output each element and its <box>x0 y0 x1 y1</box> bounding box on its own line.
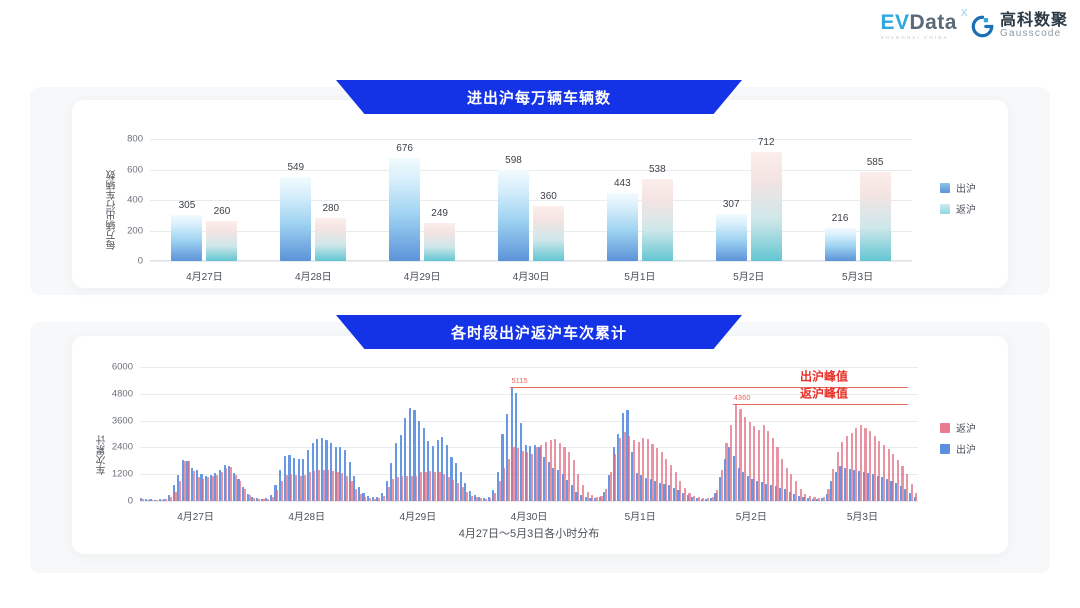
chart1-ytick-label: 600 <box>127 164 143 175</box>
brand-logo-bar: EVDatax SHANGHAI CHINA 高科数聚 Gausscode <box>880 12 1068 41</box>
chart2-bar-return[interactable] <box>309 472 311 501</box>
chart2-bar-return[interactable] <box>443 474 445 501</box>
chart2-bar-return[interactable] <box>809 496 811 501</box>
chart2-bar-return[interactable] <box>480 498 482 501</box>
chart2-xtick-label: 4月27日 <box>177 508 214 523</box>
chart2-bar-return[interactable] <box>591 495 593 501</box>
chart1-xtick-label: 5月3日 <box>842 268 873 283</box>
chart2-bar-return[interactable] <box>647 439 649 501</box>
chart2-bar-return[interactable] <box>156 500 158 501</box>
chart2-legend-item-out[interactable]: 出沪 <box>940 441 976 456</box>
chart2-bar-return[interactable] <box>383 496 385 501</box>
chart1-ytick-label: 800 <box>127 134 143 145</box>
chart2-bar-return[interactable] <box>554 439 556 501</box>
chart1-bar-out[interactable]: 443 <box>607 193 638 261</box>
chart1-bar-group: 443538 <box>607 179 673 261</box>
chart2-bar-return[interactable] <box>661 452 663 501</box>
chart2-peak-line <box>733 404 908 405</box>
gausscode-text: 高科数聚 Gausscode <box>1000 13 1068 40</box>
chart1-legend: 出沪 返沪 <box>940 180 976 216</box>
chart1-bar-group: 549280 <box>280 177 346 261</box>
chart2-bar-return[interactable] <box>540 445 542 502</box>
evdata-subtitle: SHANGHAI CHINA <box>880 36 948 41</box>
chart2-ytick-label: 6000 <box>112 362 133 373</box>
chart1-ytick-label: 200 <box>127 225 143 236</box>
chart1-bar-return[interactable]: 280 <box>315 218 346 261</box>
chart1-ytick-label: 0 <box>138 256 143 267</box>
chart2-bar-return[interactable] <box>262 499 264 501</box>
chart2-xaxis-caption: 4月27日～5月3日各小时分布 <box>140 525 918 541</box>
gausscode-logo: 高科数聚 Gausscode <box>971 13 1068 40</box>
chart2-bar-return[interactable] <box>790 474 792 501</box>
chart2-bar-return[interactable] <box>725 443 727 501</box>
chart2-bar-return[interactable] <box>355 489 357 502</box>
chart2-bar-return[interactable] <box>832 469 834 501</box>
chart2-bar-return[interactable] <box>378 498 380 501</box>
chart2-xtick-label: 4月30日 <box>511 508 548 523</box>
evdata-ev-text: EV <box>880 11 909 34</box>
chart2-bar-return[interactable] <box>452 480 454 501</box>
chart2-bar-return[interactable] <box>244 489 246 501</box>
chart2-bar-return[interactable] <box>346 476 348 501</box>
chart2-bar-return[interactable] <box>526 452 528 501</box>
chart1-bar-value-label: 360 <box>540 191 557 202</box>
chart2-bar-return[interactable] <box>559 443 561 502</box>
chart1-bar-return[interactable]: 249 <box>424 223 455 261</box>
chart1-bar-value-label: 216 <box>832 213 849 224</box>
chart2-ytick-label: 2400 <box>112 442 133 453</box>
chart2-bar-return[interactable] <box>781 459 783 501</box>
chart1-xtick-label: 4月27日 <box>186 268 223 283</box>
chart2-bar-return[interactable] <box>387 487 389 501</box>
chart1-bar-out[interactable]: 676 <box>389 158 420 261</box>
chart2-bar-return[interactable] <box>397 477 399 501</box>
chart2-bar-return[interactable] <box>633 440 635 501</box>
chart2-bar-return[interactable] <box>739 409 741 501</box>
chart2-bar-return[interactable] <box>522 451 524 501</box>
chart2-bar-return[interactable] <box>749 422 751 501</box>
chart2-legend: 返沪 出沪 <box>940 420 976 456</box>
chart2-bar-return[interactable] <box>170 497 172 501</box>
chart2-bar-return[interactable] <box>610 472 612 501</box>
chart2-xtick-label: 4月29日 <box>400 508 437 523</box>
gausscode-mark-icon <box>971 15 994 38</box>
chart2-bar-return[interactable] <box>211 476 213 501</box>
chart2-legend-label-out: 出沪 <box>956 441 976 456</box>
chart2-bar-return[interactable] <box>350 481 352 501</box>
chart2-gridline <box>140 421 918 422</box>
chart2-bar-return[interactable] <box>596 497 598 501</box>
chart2-ytick-label: 3600 <box>112 415 133 426</box>
chart2-bar-return[interactable] <box>753 426 755 501</box>
chart2-bar-return[interactable] <box>429 471 431 501</box>
chart-title-banner-vehicles: 进出沪每万辆车辆数 <box>336 80 742 114</box>
chart2-bar-return[interactable] <box>600 496 602 501</box>
chart2-xtick-label: 5月2日 <box>736 508 767 523</box>
chart2-bar-return[interactable] <box>707 498 709 501</box>
chart2-bar-return[interactable] <box>448 477 450 501</box>
chart1-xtick-label: 5月2日 <box>733 268 764 283</box>
chart2-bar-return[interactable] <box>471 496 473 501</box>
legend-swatch-icon <box>940 444 950 454</box>
chart2-bar-return[interactable] <box>665 459 667 501</box>
chart2-bar-return[interactable] <box>323 470 325 501</box>
chart2-bar-return[interactable] <box>813 497 815 501</box>
chart2-peak-value: 4360 <box>734 393 751 402</box>
chart1-bar-return[interactable]: 538 <box>642 179 673 261</box>
chart2-bar-return[interactable] <box>679 481 681 501</box>
chart2-bar-return[interactable] <box>424 472 426 501</box>
chart1-bar-return[interactable]: 585 <box>860 172 891 261</box>
chart2-bar-return[interactable] <box>712 497 714 501</box>
chart2-bar-return[interactable] <box>735 404 737 501</box>
chart2-bar-return[interactable] <box>411 476 413 501</box>
chart2-bar-return[interactable] <box>165 499 167 501</box>
chart2-bar-return[interactable] <box>336 472 338 501</box>
chart2-bar-return[interactable] <box>332 471 334 501</box>
chart2-bar-return[interactable] <box>475 497 477 501</box>
chart2-bar-return[interactable] <box>638 442 640 501</box>
chart2-bar-return[interactable] <box>249 495 251 501</box>
chart1-bar-return[interactable]: 712 <box>751 152 782 261</box>
chart2-bar-return[interactable] <box>675 472 677 501</box>
chart2-bar-return[interactable] <box>688 493 690 501</box>
chart2-bar-return[interactable] <box>318 470 320 501</box>
chart2-bar-return[interactable] <box>401 476 403 501</box>
chart2-bar-return[interactable] <box>670 465 672 501</box>
chart2-bar-return[interactable] <box>485 499 487 501</box>
chart2-bar-return[interactable] <box>795 481 797 501</box>
chart2-bar-return[interactable] <box>508 459 510 501</box>
chart2-bar-return[interactable] <box>767 431 769 501</box>
chart2-gridline <box>140 501 918 502</box>
chart2-bar-return[interactable] <box>800 489 802 502</box>
chart1-bar-value-label: 305 <box>179 200 196 211</box>
chart2-bar-return[interactable] <box>512 447 514 501</box>
chart2-bar-return[interactable] <box>188 461 190 501</box>
chart2-xtick-label: 5月1日 <box>625 508 656 523</box>
chart2-bar-return[interactable] <box>605 489 607 502</box>
chart2-bar-return[interactable] <box>730 425 732 501</box>
chart2-bar-return[interactable] <box>198 477 200 501</box>
chart2-bar-return[interactable] <box>392 479 394 501</box>
chart2-bar-return[interactable] <box>628 436 630 501</box>
chart1-gridline <box>150 139 912 140</box>
chart2-bar-return[interactable] <box>374 499 376 501</box>
chart2-bar-return[interactable] <box>851 433 853 501</box>
chart1-bar-out[interactable]: 549 <box>280 177 311 261</box>
chart1-bar-value-label: 280 <box>322 203 339 214</box>
chart1-bar-out[interactable]: 305 <box>171 215 202 262</box>
chart1-xtick-label: 4月30日 <box>513 268 550 283</box>
chart2-xtick-label: 5月3日 <box>847 508 878 523</box>
chart1-legend-label-out: 出沪 <box>956 180 976 195</box>
chart1-xtick-label: 5月1日 <box>624 268 655 283</box>
chart2-bar-return[interactable] <box>656 448 658 501</box>
chart2-bar-return[interactable] <box>651 444 653 501</box>
chart2-bar-return[interactable] <box>758 430 760 501</box>
chart1-bar-group: 676249 <box>389 158 455 261</box>
chart2-bar-return[interactable] <box>369 498 371 501</box>
chart2-bar-return[interactable] <box>304 475 306 501</box>
chart2-bar-return[interactable] <box>878 441 880 501</box>
chart2-bar-return[interactable] <box>855 428 857 501</box>
chart2-bar-return[interactable] <box>573 460 575 501</box>
chart1-legend-item-out[interactable]: 出沪 <box>940 180 976 195</box>
chart2-bar-return[interactable] <box>846 436 848 501</box>
chart2-bar-return[interactable] <box>619 438 621 501</box>
chart2-bar-return[interactable] <box>911 484 913 501</box>
chart2-bar-return[interactable] <box>272 497 274 501</box>
chart2-bar-return[interactable] <box>230 467 232 501</box>
chart2-plot-area: 4月27日～5月3日各小时分布 0120024003600480060004月2… <box>140 367 918 501</box>
chart2-ytick-label: 1200 <box>112 469 133 480</box>
chart2-xtick-label: 4月28日 <box>288 508 325 523</box>
chart2-bar-return[interactable] <box>693 496 695 501</box>
chart2-bar-return[interactable] <box>827 489 829 501</box>
chart2-bar-return[interactable] <box>503 468 505 501</box>
chart1-gridline <box>150 261 912 262</box>
chart-title-banner-hourly: 各时段出沪返沪车次累计 <box>336 315 742 349</box>
chart2-bar-return[interactable] <box>207 477 209 501</box>
chart2-ytick-label: 0 <box>128 496 133 507</box>
chart2-bar-return[interactable] <box>290 474 292 501</box>
chart2-bar-return[interactable] <box>406 476 408 501</box>
chart2-bar-return[interactable] <box>438 472 440 501</box>
chart1-bar-value-label: 260 <box>214 206 231 217</box>
chart2-bar-return[interactable] <box>174 492 176 501</box>
legend-swatch-icon <box>940 423 950 433</box>
chart1-bar-value-label: 712 <box>758 137 775 148</box>
chart1-plot-area: 02004006008003052604月27日5492804月28日67624… <box>150 139 912 261</box>
gausscode-en-name: Gausscode <box>1000 29 1068 40</box>
chart2-bar-return[interactable] <box>147 500 149 501</box>
chart2-bar-return[interactable] <box>698 497 700 501</box>
chart1-bar-value-label: 443 <box>614 178 631 189</box>
chart2-bar-return[interactable] <box>267 499 269 501</box>
chart1-bar-return[interactable]: 360 <box>533 206 564 261</box>
chart2-bar-return[interactable] <box>221 472 223 501</box>
chart2-bar-return[interactable] <box>299 476 301 501</box>
chart2-bar-return[interactable] <box>545 442 547 501</box>
legend-swatch-icon <box>940 204 950 214</box>
chart1-xtick-label: 4月28日 <box>295 268 332 283</box>
chart2-bar-return[interactable] <box>258 499 260 501</box>
chart2-bar-return[interactable] <box>614 454 616 501</box>
chart2-bar-return[interactable] <box>420 472 422 501</box>
chart2-bar-return[interactable] <box>253 498 255 501</box>
chart2-bar-return[interactable] <box>202 479 204 501</box>
chart2-bar-return[interactable] <box>864 428 866 501</box>
chart2-bar-return[interactable] <box>550 440 552 501</box>
chart2-bar-return[interactable] <box>684 488 686 501</box>
chart2-bar-return[interactable] <box>462 487 464 501</box>
chart2-bar-return[interactable] <box>466 492 468 501</box>
chart2-bar-return[interactable] <box>860 425 862 501</box>
chart1-bar-value-label: 307 <box>723 199 740 210</box>
chart2-bar-return[interactable] <box>142 499 144 501</box>
chart1-bar-value-label: 249 <box>431 208 448 219</box>
chart1-bar-out[interactable]: 307 <box>716 214 747 261</box>
chart2-peak-line <box>510 387 908 388</box>
chart2-peak-label: 出沪峰值 <box>800 367 848 384</box>
chart1-bar-value-label: 549 <box>287 162 304 173</box>
chart1-bar-group: 216585 <box>825 172 891 261</box>
chart2-bar-return[interactable] <box>568 452 570 501</box>
chart1-ytick-label: 400 <box>127 195 143 206</box>
chart1-legend-label-return: 返沪 <box>956 201 976 216</box>
chart2-bar-return[interactable] <box>897 460 899 501</box>
chart2-bar-return[interactable] <box>587 492 589 501</box>
evdata-logo: EVDatax SHANGHAI CHINA <box>880 12 957 41</box>
gausscode-cn-name: 高科数聚 <box>1000 13 1068 30</box>
chart1-bar-value-label: 585 <box>867 157 884 168</box>
chart1-bar-value-label: 676 <box>396 143 413 154</box>
chart2-bar-return[interactable] <box>744 417 746 501</box>
chart2-bar-return[interactable] <box>536 447 538 501</box>
chart2-bar-return[interactable] <box>624 432 626 501</box>
chart2-bar-return[interactable] <box>818 498 820 501</box>
chart1-bar-group: 307712 <box>716 152 782 261</box>
chart2-peak-value: 5115 <box>511 376 527 385</box>
chart2-bar-return[interactable] <box>823 497 825 501</box>
chart2-bar-return[interactable] <box>888 449 890 501</box>
chart1-bar-value-label: 598 <box>505 155 522 166</box>
chart1-bar-out[interactable]: 216 <box>825 228 856 261</box>
chart2-bar-return[interactable] <box>892 454 894 501</box>
chart2-bar-return[interactable] <box>869 431 871 501</box>
chart2-ytick-label: 4800 <box>112 388 133 399</box>
chart2-bar-return[interactable] <box>239 481 241 501</box>
chart2-bar-return[interactable] <box>582 485 584 501</box>
chart2-bar-return[interactable] <box>841 442 843 501</box>
evdata-wordmark: EVDatax <box>880 12 957 33</box>
chart2-peak-label: 返沪峰值 <box>800 384 848 401</box>
chart2-bar-return[interactable] <box>874 436 876 501</box>
chart2-bar-return[interactable] <box>216 475 218 501</box>
chart2-bar-return[interactable] <box>642 438 644 501</box>
chart1-yaxis-title: 每万辆出行车辆数 <box>105 150 120 250</box>
chart1-legend-item-return[interactable]: 返沪 <box>940 201 976 216</box>
chart2-bar-return[interactable] <box>577 474 579 501</box>
chart2-bar-return[interactable] <box>494 493 496 501</box>
chart2-bar-return[interactable] <box>184 461 186 501</box>
chart2-bar-return[interactable] <box>313 471 315 501</box>
chart2-yaxis-title: 车次累计 <box>95 395 110 475</box>
chart2-bar-return[interactable] <box>295 475 297 501</box>
chart1-bar-group: 305260 <box>171 215 237 262</box>
chart2-bar-return[interactable] <box>517 448 519 501</box>
chart2-bar-return[interactable] <box>341 473 343 501</box>
evdata-x-icon: x <box>961 5 968 18</box>
chart2-bar-return[interactable] <box>531 454 533 501</box>
chart2-bar-return[interactable] <box>179 481 181 501</box>
chart2-bar-return[interactable] <box>161 500 163 501</box>
chart2-bar-return[interactable] <box>457 483 459 501</box>
chart2-bar-return[interactable] <box>772 438 774 501</box>
chart2-legend-item-return[interactable]: 返沪 <box>940 420 976 435</box>
chart2-bar-return[interactable] <box>721 470 723 501</box>
chart2-bar-return[interactable] <box>360 494 362 501</box>
chart2-legend-label-return: 返沪 <box>956 420 976 435</box>
chart2-bar-return[interactable] <box>415 476 417 501</box>
chart1-bar-out[interactable]: 598 <box>498 170 529 261</box>
chart2-bar-return[interactable] <box>281 481 283 501</box>
chart1-bar-group: 598360 <box>498 170 564 261</box>
chart2-bar-return[interactable] <box>286 475 288 501</box>
chart2-bar-return[interactable] <box>837 452 839 501</box>
chart1-bar-value-label: 538 <box>649 164 666 175</box>
chart2-bar-return[interactable] <box>776 447 778 501</box>
legend-swatch-icon <box>940 183 950 193</box>
chart2-bar-return[interactable] <box>563 447 565 501</box>
chart2-bar-return[interactable] <box>786 468 788 502</box>
chart2-bar-return[interactable] <box>235 475 237 501</box>
chart2-bar-return[interactable] <box>906 474 908 501</box>
chart2-bar-return[interactable] <box>763 425 765 501</box>
chart1-bar-return[interactable]: 260 <box>206 221 237 261</box>
chart2-bar-return[interactable] <box>434 472 436 501</box>
chart2-bar-return[interactable] <box>499 481 501 501</box>
evdata-data-text: Data <box>909 11 957 34</box>
chart2-bar-return[interactable] <box>901 466 903 501</box>
chart1-xtick-label: 4月29日 <box>404 268 441 283</box>
chart2-bar-return[interactable] <box>193 471 195 501</box>
chart2-bar-return[interactable] <box>883 445 885 501</box>
